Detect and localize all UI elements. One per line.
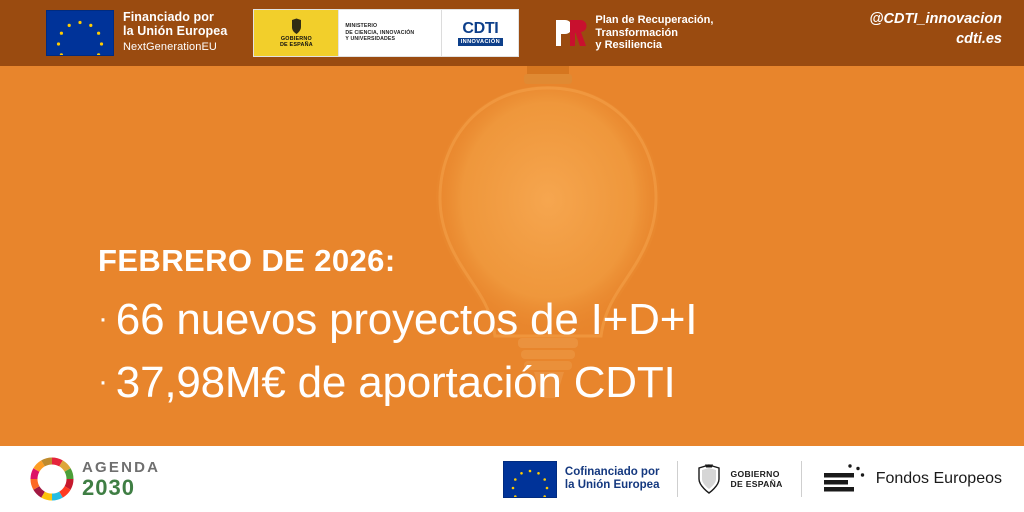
list-item: ·66 nuevos proyectos de I+D+I: [98, 288, 697, 351]
gobierno-bottom-line2: DE ESPAÑA: [730, 479, 782, 489]
bullet-marker: ·: [98, 365, 108, 398]
social-handle-block: @CDTI_innovacion cdti.es: [869, 9, 1002, 49]
ministry-line3: Y UNIVERSIDADES: [345, 36, 441, 43]
gobierno-line2: DE ESPAÑA: [280, 42, 313, 48]
cofinanced-line1: Cofinanciado por: [565, 466, 660, 479]
poster: Financiado por la Unión Europea NextGene…: [0, 0, 1024, 512]
fondos-europeos-label: Fondos Europeos: [876, 470, 1002, 488]
eu-flag-icon: [503, 461, 557, 498]
cdti-logo: CDTI INNOVACIÓN: [441, 10, 518, 56]
gobierno-bottom-line1: GOBIERNO: [730, 469, 782, 479]
cofinanced-eu-logo: Cofinanciado por la Unión Europea: [503, 461, 660, 498]
fondos-europeos-mark-icon: [820, 462, 866, 496]
twitter-handle: @CDTI_innovacion: [869, 9, 1002, 29]
cofinanced-text: Cofinanciado por la Unión Europea: [565, 466, 660, 492]
ministry-line2: DE CIENCIA, INNOVACIÓN: [345, 30, 441, 37]
bullet-list: ·66 nuevos proyectos de I+D+I ·37,98M€ d…: [98, 288, 697, 414]
gobierno-de-espana-logo: GOBIERNO DE ESPAÑA: [254, 10, 338, 56]
bottom-banner: AGENDA 2030: [0, 446, 1024, 512]
prtr-mark-icon: [553, 17, 587, 49]
gobierno-de-espana-logo-bottom: GOBIERNO DE ESPAÑA: [696, 464, 782, 494]
gobierno-text-bottom: GOBIERNO DE ESPAÑA: [730, 469, 782, 489]
cofinanced-line2: la Unión Europea: [565, 479, 660, 492]
prtr-line3: y Resiliencia: [595, 39, 713, 52]
eu-funding-text: Financiado por la Unión Europea NextGene…: [123, 11, 227, 55]
bullet-marker: ·: [98, 302, 108, 335]
prtr-line2: Transformación: [595, 27, 713, 40]
page-title: FEBRERO DE 2026:: [98, 243, 396, 279]
bullet-text: 66 nuevos proyectos de I+D+I: [116, 295, 697, 344]
divider: [677, 461, 678, 497]
agenda-title: AGENDA: [82, 459, 160, 476]
eu-funding-sub: NextGenerationEU: [123, 41, 227, 55]
top-banner: Financiado por la Unión Europea NextGene…: [0, 0, 1024, 66]
list-item: ·37,98M€ de aportación CDTI: [98, 351, 697, 414]
eu-funding-line2: la Unión Europea: [123, 24, 227, 38]
agenda-year: 2030: [82, 477, 160, 499]
fondos-europeos-logo: Fondos Europeos: [820, 462, 1002, 496]
eu-funding-line1: Financiado por: [123, 10, 214, 24]
eu-stars-icon: [47, 11, 113, 55]
eu-flag-icon: [46, 10, 114, 56]
prtr-line1: Plan de Recuperación,: [595, 14, 713, 27]
spain-coat-of-arms-icon: [289, 18, 304, 35]
spain-ministry-block: GOBIERNO DE ESPAÑA MINISTERIO DE CIENCIA…: [253, 9, 519, 57]
agenda-2030-logo: AGENDA 2030: [30, 457, 160, 501]
cdti-mark: CDTI: [462, 21, 498, 36]
agenda-text: AGENDA 2030: [82, 460, 160, 499]
divider: [801, 461, 802, 497]
bullet-text: 37,98M€ de aportación CDTI: [116, 358, 676, 407]
prtr-text: Plan de Recuperación, Transformación y R…: [595, 14, 713, 52]
website-url: cdti.es: [869, 29, 1002, 49]
prtr-logo-block: Plan de Recuperación, Transformación y R…: [553, 14, 713, 52]
ministry-logo: MINISTERIO DE CIENCIA, INNOVACIÓN Y UNIV…: [338, 10, 441, 56]
cdti-sublabel: INNOVACIÓN: [458, 38, 503, 46]
sdg-color-wheel-icon: [30, 457, 74, 501]
eu-stars-icon: [504, 462, 556, 497]
ministry-line1: MINISTERIO: [345, 23, 441, 30]
bottom-logos: Cofinanciado por la Unión Europea GOBIER…: [503, 446, 1002, 512]
spain-coat-of-arms-icon: [696, 464, 722, 494]
